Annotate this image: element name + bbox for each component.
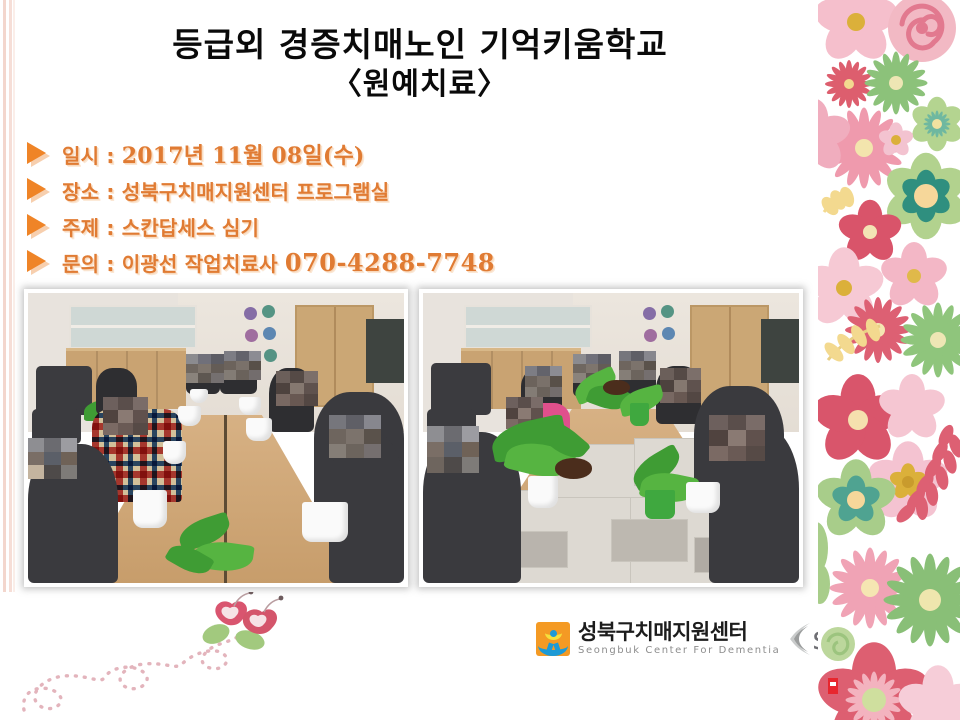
triangle-right-icon (26, 214, 56, 238)
dotted-trail-icon (10, 592, 300, 720)
list-item-value: 스칸답세스 심기 (122, 216, 259, 240)
left-accent-rule-secondary (9, 0, 12, 592)
list-item: 장소 : 성북구치매지원센터 프로그램실 (26, 172, 586, 208)
photo-seniors-at-table (24, 289, 408, 587)
list-item: 주제 : 스칸답세스 심기 (26, 208, 586, 244)
seongbuk-person-logo-icon (536, 622, 570, 656)
list-item-value: 성북구치매지원센터 프로그램실 (122, 180, 390, 204)
slide-canvas: 등급외 경증치매노인 기억키움학교 〈원예치료〉 일시 : 2017년 11월 … (0, 0, 960, 720)
sb-swoosh-icon (786, 619, 812, 659)
list-item-label: 장소 : 성북구치매지원센터 프로그램실 (62, 176, 389, 205)
organization-name-en: Seongbuk Center For Dementia (578, 646, 780, 656)
list-item-label: 일시 : 2017년 11월 08일(수) (62, 138, 365, 170)
left-accent-rule-tertiary (13, 0, 15, 592)
organization-name-block: 성북구치매지원센터 Seongbuk Center For Dementia (578, 622, 780, 656)
floral-pattern-icon (818, 0, 960, 720)
list-item-text: 문의 (62, 252, 99, 276)
triangle-right-icon (26, 142, 56, 166)
title-line-primary: 등급외 경증치매노인 기억키움학교 (60, 26, 780, 65)
organization-logo: 성북구치매지원센터 Seongbuk Center For Dementia s… (536, 616, 846, 662)
detail-list: 일시 : 2017년 11월 08일(수) 장소 : 성북구치매지원센터 프로그… (26, 136, 586, 280)
title-line-secondary: 〈원예치료〉 (60, 67, 780, 102)
list-item: 문의 : 이광선 작업치료사 070-4288-7748 (26, 244, 586, 280)
list-item-value: 이광선 작업치료사 (122, 252, 278, 276)
list-item-text: 장소 (62, 180, 99, 204)
floral-border-decoration (818, 0, 960, 720)
list-item-separator: : (99, 180, 122, 204)
left-accent-rule (3, 0, 6, 592)
list-item-text: 주제 (62, 216, 99, 240)
triangle-right-icon (26, 178, 56, 202)
list-item-value: 2017년 11월 08일(수) (122, 143, 365, 169)
photo-planting-activity (419, 289, 803, 587)
list-item-label: 문의 : 이광선 작업치료사 070-4288-7748 (62, 248, 495, 277)
list-item-text: 일시 (62, 144, 99, 168)
list-item: 일시 : 2017년 11월 08일(수) (26, 136, 586, 172)
list-item-separator: : (99, 252, 122, 276)
butterfly-decoration (10, 592, 300, 720)
contact-phone-number: 070-4288-7748 (285, 248, 495, 277)
list-item-label: 주제 : 스칸답세스 심기 (62, 212, 259, 241)
organization-name-ko: 성북구치매지원센터 (578, 622, 780, 643)
list-item-separator: : (99, 216, 122, 240)
page-title: 등급외 경증치매노인 기억키움학교 〈원예치료〉 (60, 26, 780, 102)
triangle-right-icon (26, 250, 56, 274)
list-item-separator: : (99, 144, 122, 168)
